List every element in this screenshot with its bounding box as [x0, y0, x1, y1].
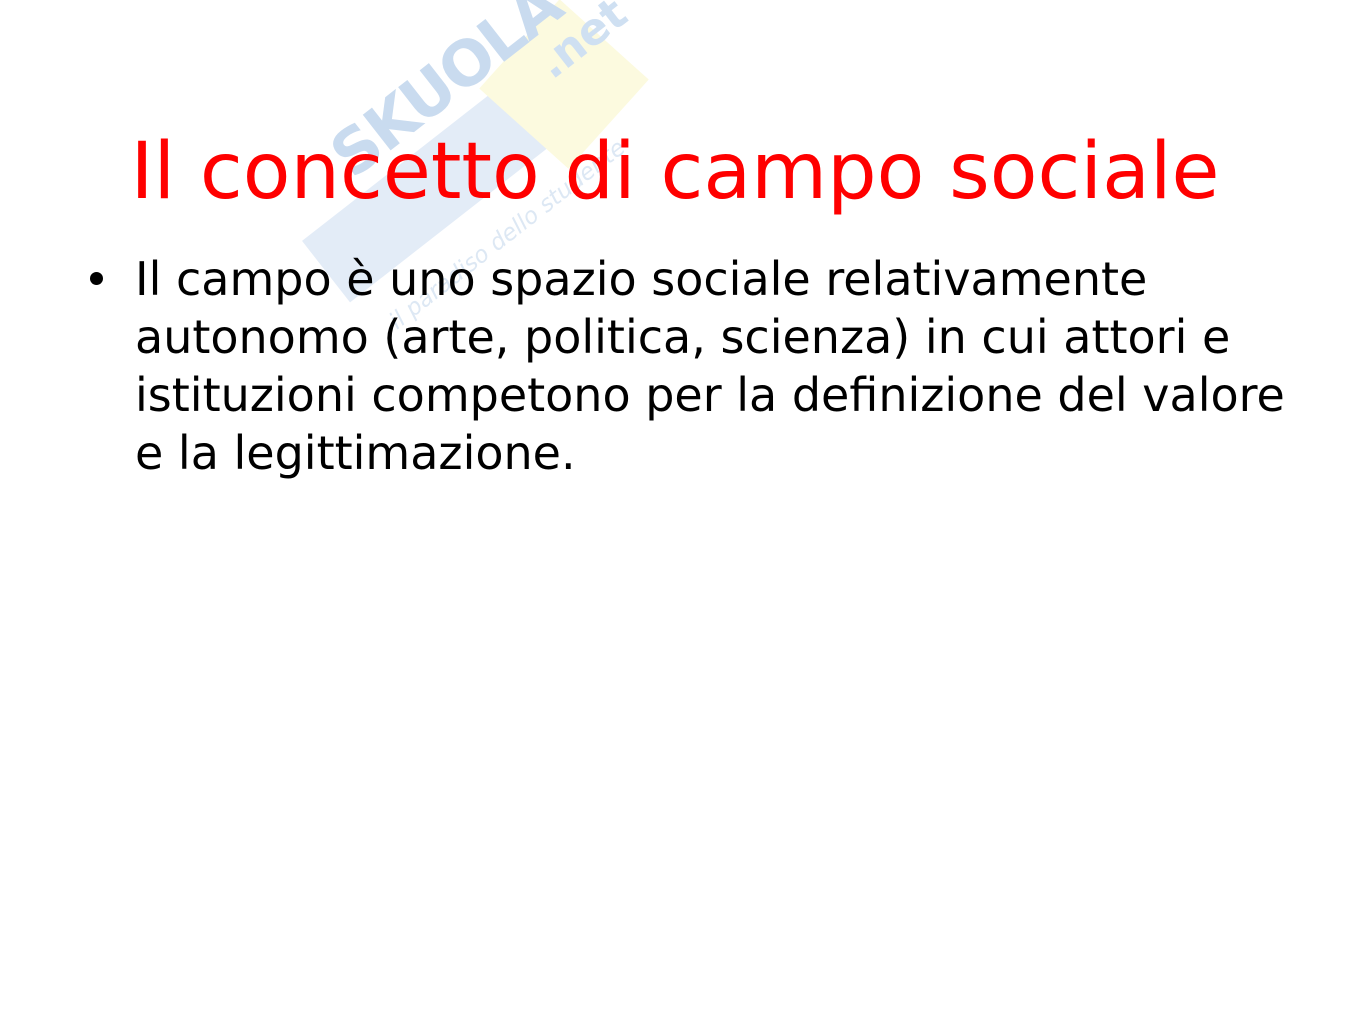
- presentation-slide: SKUOLA .net il paradiso dello studente I…: [0, 0, 1350, 1013]
- watermark-domain-text: .net: [530, 0, 635, 87]
- slide-body-bullet-list: Il campo è uno spazio sociale relativame…: [88, 250, 1288, 482]
- bullet-text: Il campo è uno spazio sociale relativame…: [135, 250, 1288, 482]
- bullet-point-icon: [90, 272, 103, 285]
- slide-title: Il concetto di campo sociale: [60, 126, 1290, 218]
- list-item: Il campo è uno spazio sociale relativame…: [88, 250, 1288, 482]
